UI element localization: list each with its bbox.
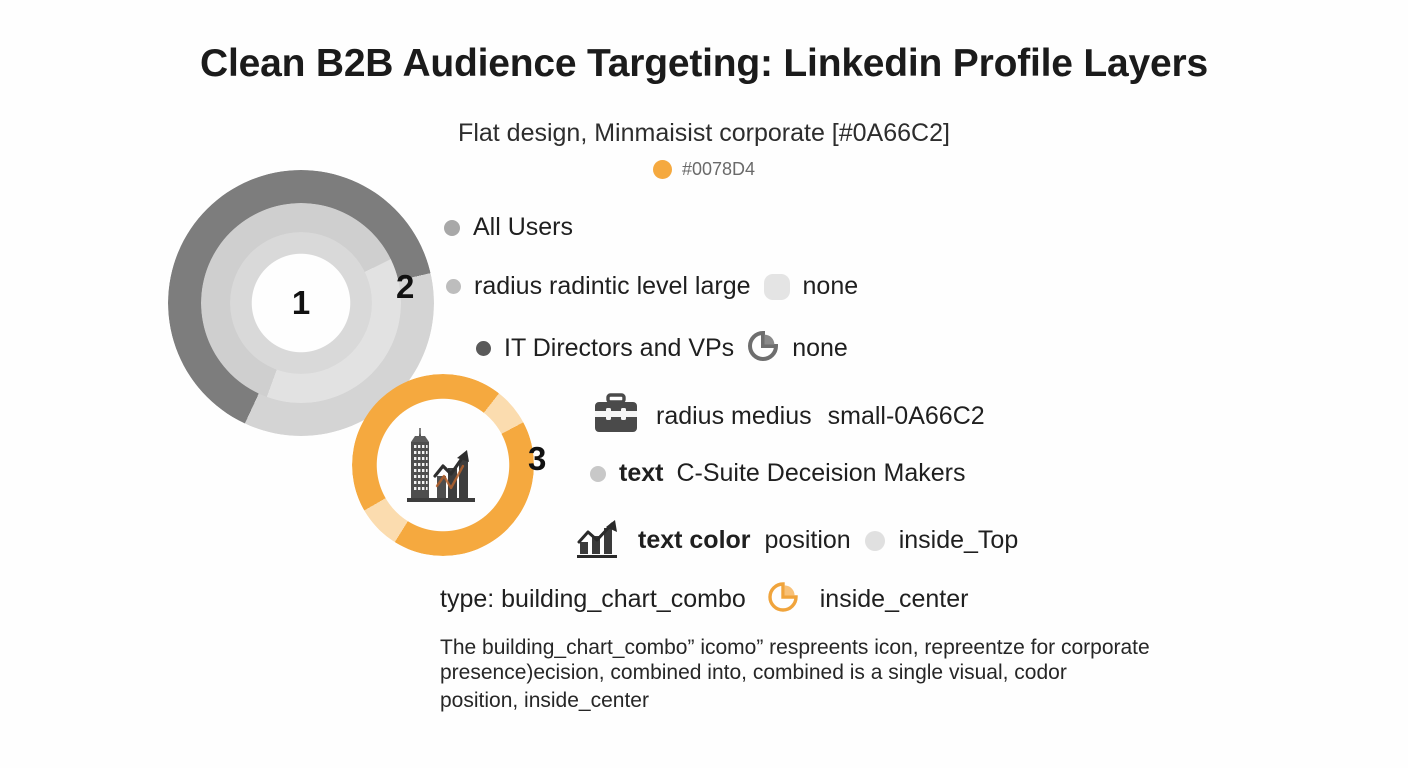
legend-row-all-users[interactable]: All Users: [444, 213, 573, 242]
briefcase-icon: [592, 392, 640, 441]
legend-label-radius-medius: radius medius: [656, 402, 812, 431]
dark-dot-icon: [476, 341, 491, 356]
building-chart-combo-icon: [393, 414, 493, 514]
legend-key-text-color: text color: [638, 526, 751, 555]
legend-row-csuite[interactable]: text C-Suite Deceision Makers: [590, 459, 965, 488]
legend-label-radius-large: radius radintic level large: [474, 272, 751, 301]
donut-label-three: 3: [528, 440, 546, 478]
legend-label-position: position: [765, 526, 851, 555]
legend-row-it-directors[interactable]: IT Directors and VPs none: [476, 330, 848, 367]
legend-row-text-color[interactable]: text color position inside_Top: [574, 516, 1018, 565]
description-paragraph: The building_chart_combo” icomo” respree…: [440, 636, 1230, 714]
legend-label-csuite: C-Suite Deceision Makers: [676, 459, 965, 488]
faint-dot-icon: [865, 531, 885, 551]
page-subtitle: Flat design, Minmaisist corporate [#0A66…: [0, 119, 1408, 148]
poster-canvas: Clean B2B Audience Targeting: Linkedin P…: [0, 0, 1408, 768]
ring-label-two: 2: [396, 268, 414, 306]
orange-donut-graphic: [352, 374, 534, 556]
legend-value-inside-center: inside_center: [820, 585, 969, 614]
gray-dot-icon: [590, 466, 606, 482]
gray-dot-icon: [446, 279, 461, 294]
legend-row-radius-medius[interactable]: radius medius small-0A66C2: [592, 392, 985, 441]
legend-value-radius-medius: small-0A66C2: [828, 402, 985, 431]
palette-label: #0078D4: [682, 159, 755, 180]
pie-chart-icon: [747, 330, 779, 367]
legend-value-radius-large: none: [803, 272, 859, 301]
palette-swatch-icon: [653, 160, 672, 179]
orange-pie-chart-icon: [766, 580, 800, 619]
legend-label-all-users: All Users: [473, 213, 573, 242]
legend-row-type-combo[interactable]: type: building_chart_combo inside_center: [440, 580, 968, 619]
page-title: Clean B2B Audience Targeting: Linkedin P…: [0, 42, 1408, 86]
rounded-square-swatch-icon: [764, 274, 790, 300]
legend-label-type-combo: type: building_chart_combo: [440, 585, 746, 614]
legend-key-csuite: text: [619, 459, 663, 488]
legend-value-inside-top: inside_Top: [899, 526, 1019, 555]
legend-value-it-directors: none: [792, 334, 848, 363]
description-last-line: position, inside_center: [440, 689, 1230, 714]
legend-label-it-directors: IT Directors and VPs: [504, 334, 734, 363]
description-body: The building_chart_combo” icomo” respree…: [440, 636, 1150, 684]
growth-chart-icon: [574, 516, 624, 565]
gray-dot-icon: [444, 220, 460, 236]
legend-row-radius-large[interactable]: radius radintic level large none: [446, 272, 858, 301]
